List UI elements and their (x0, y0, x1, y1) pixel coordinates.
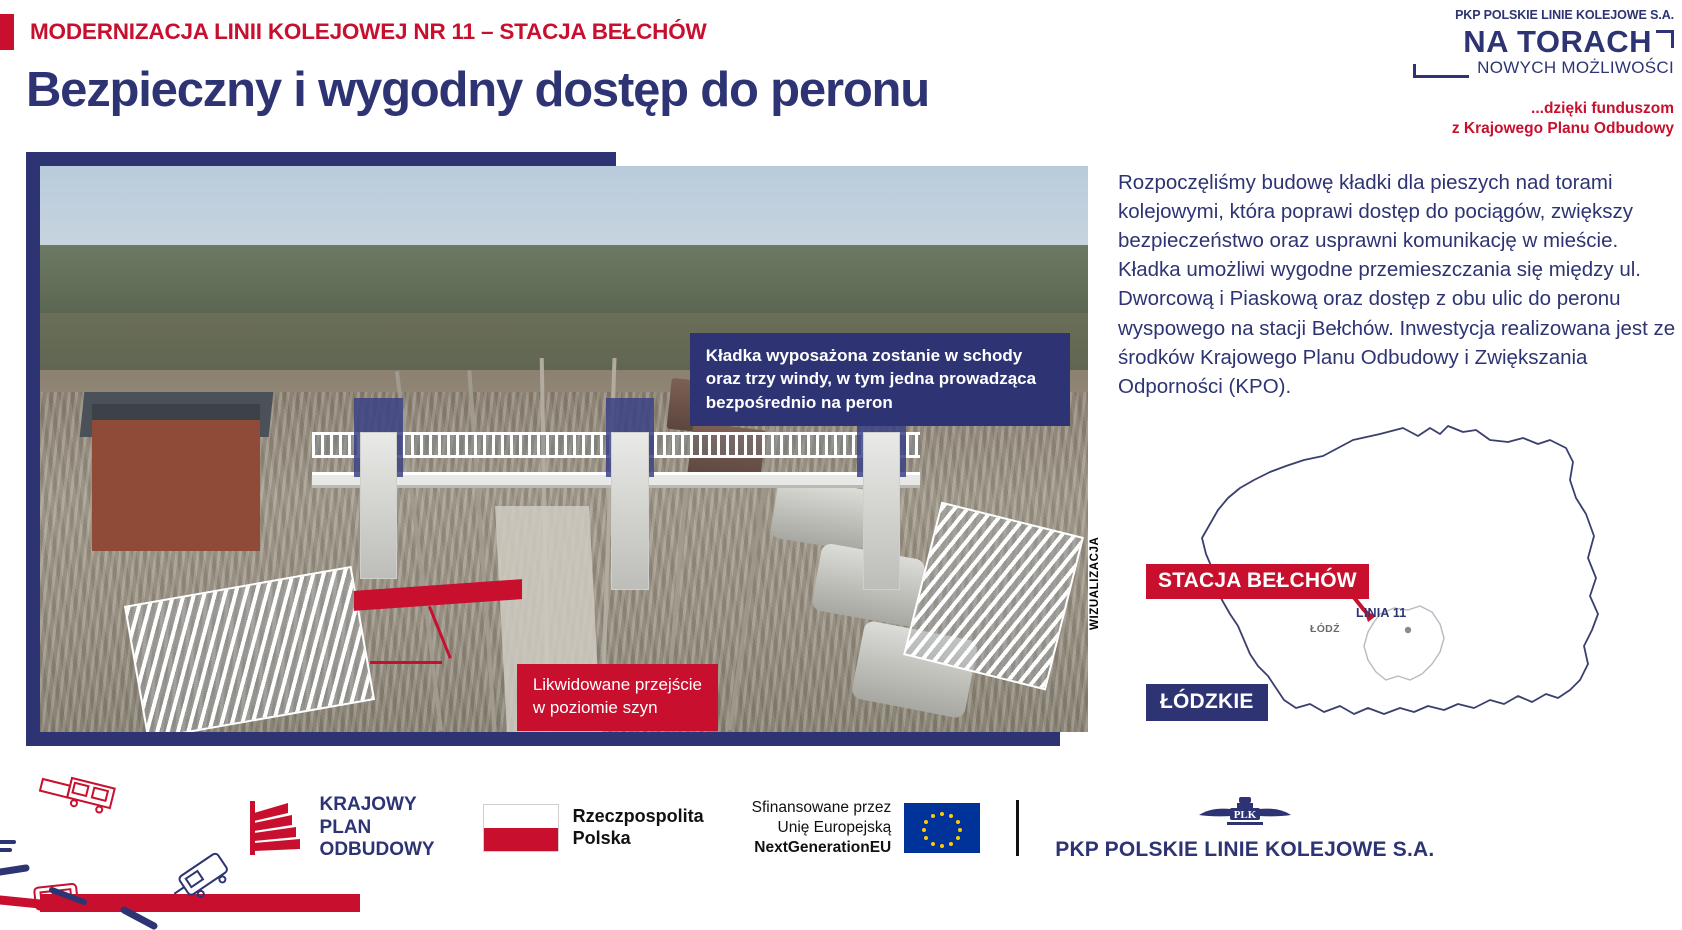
photo-red-underbar (40, 894, 360, 912)
flag-red-stripe (484, 828, 558, 851)
kpo-line3: ODBUDOWY (320, 839, 435, 861)
rp-logo-text: Rzeczpospolita Polska (573, 806, 704, 850)
kicker-accent-bar (0, 14, 14, 50)
plk-logo: PLK PKP POLSKIE LINIE KOLEJOWE S.A. (1055, 795, 1434, 862)
map-station-label: STACJA BEŁCHÓW (1146, 564, 1369, 599)
photo-credit: WIZUALIZACJA (1089, 537, 1101, 630)
photo-pylon (863, 432, 901, 590)
poland-map: STACJA BEŁCHÓW LINIA 11 ŁÓDŹ ŁÓDZKIE (1118, 418, 1678, 758)
kpo-line1: KRAJOWY (320, 794, 435, 816)
kicker-text: MODERNIZACJA LINII KOLEJOWEJ NR 11 – STA… (30, 19, 707, 45)
kpo-logo-text: KRAJOWY PLAN ODBUDOWY (320, 794, 435, 861)
photo-pylon (360, 432, 398, 579)
footer-divider (1016, 800, 1019, 856)
callout-red-line2: w poziomie szyn (533, 697, 702, 720)
brand-company-name: PKP POLSKIE LINIE KOLEJOWE S.A. (1274, 8, 1674, 22)
map-city-label: ŁÓDŹ (1310, 623, 1340, 635)
map-line-label: LINIA 11 (1356, 606, 1406, 620)
page-header: MODERNIZACJA LINII KOLEJOWEJ NR 11 – STA… (0, 0, 1100, 140)
kpo-logo: KRAJOWY PLAN ODBUDOWY (248, 794, 435, 861)
footer-logo-strip: KRAJOWY PLAN ODBUDOWY Rzeczpospolita Pol… (0, 778, 1682, 878)
photo-panel: Kładka wyposażona zostanie w schody oraz… (26, 152, 1088, 752)
kpo-line2: PLAN (320, 817, 435, 839)
bracket-bottom-left-icon (1413, 64, 1469, 78)
eu-flag-icon (904, 803, 980, 853)
poland-flag-icon (483, 804, 559, 852)
brand-block: PKP POLSKIE LINIE KOLEJOWE S.A. NA TORAC… (1274, 8, 1674, 139)
eu-line1: Sfinansowane przez (752, 798, 892, 818)
photo-frame-bottom (26, 732, 1060, 746)
callout-red: Likwidowane przejście w poziomie szyn (517, 664, 718, 731)
photo-station-building (92, 404, 260, 551)
lodz-city-dot (1405, 627, 1411, 633)
plk-winged-emblem-icon: PLK (1197, 795, 1293, 834)
flag-white-stripe (484, 805, 558, 828)
photo-frame-top (26, 152, 616, 166)
map-voivodeship-label: ŁÓDZKIE (1146, 684, 1268, 721)
eu-line2: Unię Europejską (752, 818, 892, 838)
rp-line2: Polska (573, 828, 704, 850)
campaign-line2: NOWYCH MOŻLIWOŚCI (1477, 58, 1674, 78)
eu-funding-logo: Sfinansowane przez Unię Europejską NextG… (752, 798, 981, 857)
page-title: Bezpieczny i wygodny dostęp do peronu (26, 62, 929, 118)
visualization-photo: Kładka wyposażona zostanie w schody oraz… (40, 166, 1088, 732)
photo-frame-left (26, 152, 40, 746)
bracket-top-right-icon (1656, 30, 1674, 48)
kpo-mark-icon (248, 797, 306, 859)
brand-slogan: ...dzięki funduszom z Krajowego Planu Od… (1274, 99, 1674, 139)
callout-navy: Kładka wyposażona zostanie w schody oraz… (690, 333, 1070, 426)
right-column: Rozpoczęliśmy budowę kładki dla pieszych… (1118, 168, 1678, 401)
brand-slogan-line1: ...dzięki funduszom (1274, 99, 1674, 119)
callout-red-line1: Likwidowane przejście (533, 674, 702, 697)
kicker-row: MODERNIZACJA LINII KOLEJOWEJ NR 11 – STA… (0, 14, 707, 50)
eu-logo-text: Sfinansowane przez Unię Europejską NextG… (752, 798, 892, 857)
rp-line1: Rzeczpospolita (573, 806, 704, 828)
eu-line3: NextGenerationEU (752, 838, 892, 858)
body-paragraph: Rozpoczęliśmy budowę kładki dla pieszych… (1118, 168, 1678, 401)
plk-company-name: PKP POLSKIE LINIE KOLEJOWE S.A. (1055, 838, 1434, 862)
rzeczpospolita-polska-logo: Rzeczpospolita Polska (483, 804, 704, 852)
photo-pylon (611, 432, 649, 590)
brand-slogan-line2: z Krajowego Planu Odbudowy (1274, 119, 1674, 139)
photo-callout-leader-line (370, 661, 442, 664)
campaign-logo: NA TORACH NOWYCH MOŻLIWOŚCI (1413, 26, 1674, 78)
campaign-line1: NA TORACH (1463, 26, 1652, 57)
plk-mark-text: PLK (1234, 809, 1257, 821)
